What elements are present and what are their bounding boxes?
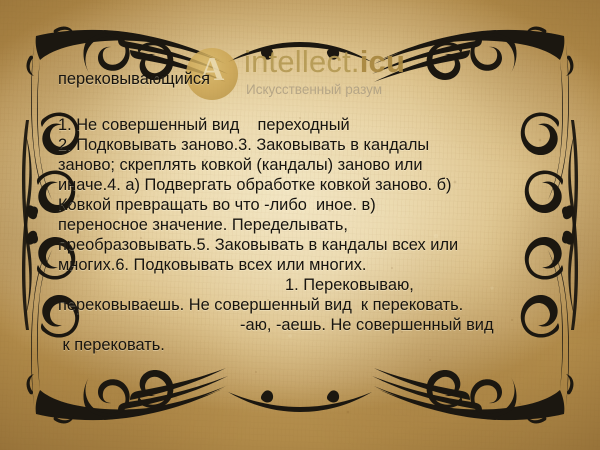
entry-line: к перековать. bbox=[58, 336, 165, 354]
entry-line: Ковкой превращать во что -либо иное. в) bbox=[58, 196, 376, 214]
entry-line: переносное значение. Переделывать, bbox=[58, 216, 348, 234]
dictionary-entry-card: A intellect.icu Искусственный разум пере… bbox=[0, 0, 600, 450]
entry-line: заново; скреплять ковкой (кандалы) занов… bbox=[58, 156, 422, 174]
entry-line: перековываешь. Не совершенный вид к пере… bbox=[58, 296, 463, 314]
entry-line: 1. Не совершенный вид переходный bbox=[58, 116, 350, 134]
entry-line: иначе.4. а) Подвергать обработке ковкой … bbox=[58, 176, 452, 194]
entry-line: многих.6. Подковывать всех или многих. bbox=[58, 256, 366, 274]
entry-line: 2. Подковывать заново.3. Заковывать в ка… bbox=[58, 136, 429, 154]
entry-text-block: перековывающийся 1. Не совершенный вид п… bbox=[0, 0, 600, 450]
entry-line: 1. Перековываю, bbox=[285, 276, 414, 294]
entry-line: -аю, -аешь. Не совершенный вид bbox=[240, 316, 494, 334]
entry-line: преобразовывать.5. Заковывать в кандалы … bbox=[58, 236, 458, 254]
entry-headword: перековывающийся bbox=[58, 70, 210, 88]
